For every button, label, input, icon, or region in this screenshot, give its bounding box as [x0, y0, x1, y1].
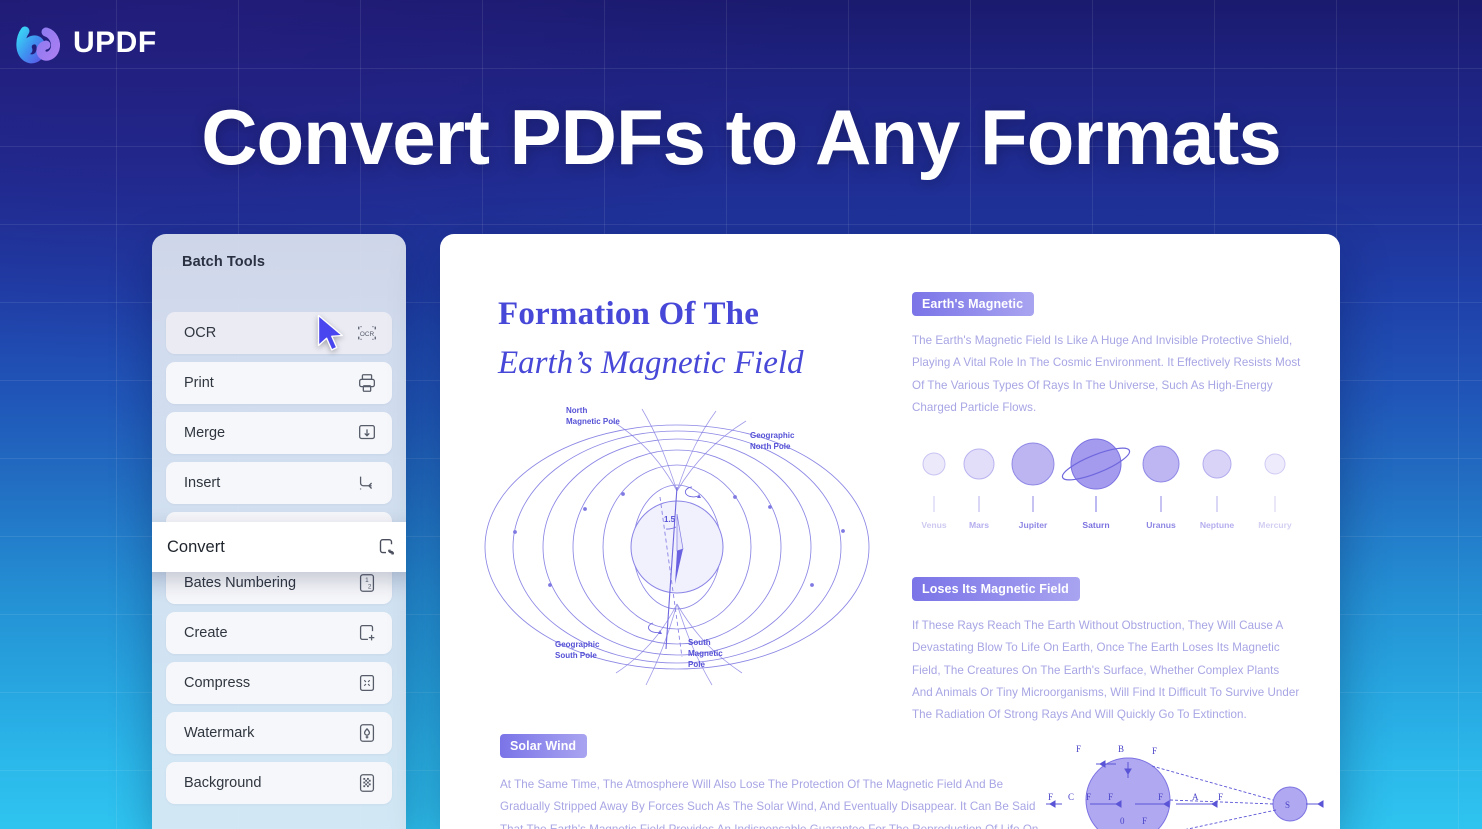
section-badge: Loses Its Magnetic Field — [912, 577, 1080, 601]
ocr-icon: OCR — [356, 322, 378, 344]
svg-text:F: F — [1158, 792, 1163, 802]
brand-name: UPDF — [73, 26, 157, 60]
svg-text:North Pole: North Pole — [750, 442, 791, 451]
force-vector-diagram: S FBF FC FF FAF 0F — [1040, 742, 1340, 829]
section-body: The Earth's Magnetic Field Is Like A Hug… — [912, 330, 1302, 419]
svg-text:1.5: 1.5 — [664, 515, 676, 524]
insert-icon — [356, 472, 378, 494]
create-icon — [356, 622, 378, 644]
svg-text:Pole: Pole — [688, 660, 705, 669]
doc-heading-line2: Earth’s Magnetic Field — [498, 345, 918, 382]
tool-label: Create — [184, 625, 228, 641]
convert-icon — [375, 536, 397, 558]
section-loses-magnetic-field: Loses Its Magnetic Field If These Rays R… — [912, 577, 1302, 726]
section-solar-wind: Solar Wind At The Same Time, The Atmosph… — [500, 734, 1040, 829]
planet-label-saturn: Saturn — [1082, 520, 1109, 530]
mouse-cursor-icon — [316, 314, 346, 352]
section-earths-magnetic: Earth's Magnetic The Earth's Magnetic Fi… — [912, 292, 1302, 419]
watermark-icon — [356, 722, 378, 744]
page-title: Convert PDFs to Any Formats — [0, 92, 1482, 183]
svg-text:F: F — [1108, 792, 1113, 802]
svg-text:Magnetic: Magnetic — [688, 649, 723, 658]
svg-text:South: South — [688, 638, 711, 647]
svg-text:C: C — [1068, 792, 1074, 802]
planet-label-uranus: Uranus — [1146, 520, 1176, 530]
svg-text:Geographic: Geographic — [555, 640, 600, 649]
sidebar-item-convert[interactable]: Convert — [152, 522, 406, 572]
svg-text:0: 0 — [1120, 816, 1125, 826]
tool-label: Convert — [167, 538, 225, 557]
svg-text:OCR: OCR — [360, 331, 375, 338]
sidebar-item-merge[interactable]: Merge — [166, 412, 392, 454]
section-body: At The Same Time, The Atmosphere Will Al… — [500, 774, 1040, 829]
planet-label-mercury: Mercury — [1258, 520, 1292, 530]
svg-text:S: S — [1285, 800, 1290, 810]
merge-icon — [356, 422, 378, 444]
svg-text:F: F — [1218, 792, 1223, 802]
panel-title: Batch Tools — [152, 234, 406, 270]
tool-label: Watermark — [184, 725, 254, 741]
tool-label: Compress — [184, 675, 250, 691]
svg-text:B: B — [1118, 744, 1124, 754]
print-icon — [356, 372, 378, 394]
updf-logo-icon — [16, 22, 62, 64]
planet-label-venus: Venus — [921, 520, 947, 530]
batch-tools-panel: Batch Tools OCR OCR Print Merge — [152, 234, 406, 829]
compress-icon — [356, 672, 378, 694]
sidebar-item-ocr[interactable]: OCR OCR — [166, 312, 392, 354]
section-body: If These Rays Reach The Earth Without Ob… — [912, 615, 1302, 726]
svg-text:F: F — [1076, 744, 1081, 754]
planet-label-neptune: Neptune — [1200, 520, 1235, 530]
background-icon — [356, 772, 378, 794]
tool-label: OCR — [184, 325, 216, 341]
svg-text:F: F — [1142, 816, 1147, 826]
sidebar-item-create[interactable]: Create — [166, 612, 392, 654]
document-preview-panel[interactable]: Formation Of The Earth’s Magnetic Field — [440, 234, 1340, 829]
doc-heading-line1: Formation Of The — [498, 296, 918, 333]
planet-label-mars: Mars — [969, 520, 989, 530]
tool-label: Print — [184, 375, 214, 391]
magnetic-field-diagram: 1.5 North Magnetic Pole Geographic North… — [470, 399, 900, 689]
planets-diagram: Venus Mars Jupiter Saturn Uranus Neptune… — [912, 434, 1302, 544]
svg-text:F: F — [1086, 792, 1091, 802]
svg-text:North: North — [566, 406, 587, 415]
sidebar-item-background[interactable]: Background — [166, 762, 392, 804]
svg-text:South Pole: South Pole — [555, 651, 597, 660]
sidebar-item-compress[interactable]: Compress — [166, 662, 392, 704]
doc-heading: Formation Of The Earth’s Magnetic Field — [498, 296, 918, 382]
svg-text:2: 2 — [368, 584, 372, 591]
tool-label: Insert — [184, 475, 220, 491]
tool-label: Bates Numbering — [184, 575, 296, 591]
section-badge: Earth's Magnetic — [912, 292, 1034, 316]
sidebar-item-insert[interactable]: Insert — [166, 462, 392, 504]
tool-label: Merge — [184, 425, 225, 441]
section-badge: Solar Wind — [500, 734, 587, 758]
svg-text:F: F — [1152, 746, 1157, 756]
sidebar-item-watermark[interactable]: Watermark — [166, 712, 392, 754]
svg-text:Magnetic Pole: Magnetic Pole — [566, 417, 620, 426]
planet-label-jupiter: Jupiter — [1019, 520, 1048, 530]
bates-numbering-icon: 1 2 — [356, 572, 378, 594]
svg-text:Geographic: Geographic — [750, 431, 795, 440]
svg-text:F: F — [1048, 792, 1053, 802]
sidebar-item-print[interactable]: Print — [166, 362, 392, 404]
svg-text:A: A — [1192, 792, 1199, 802]
brand-logo[interactable]: UPDF — [16, 22, 157, 64]
tool-label: Background — [184, 775, 261, 791]
